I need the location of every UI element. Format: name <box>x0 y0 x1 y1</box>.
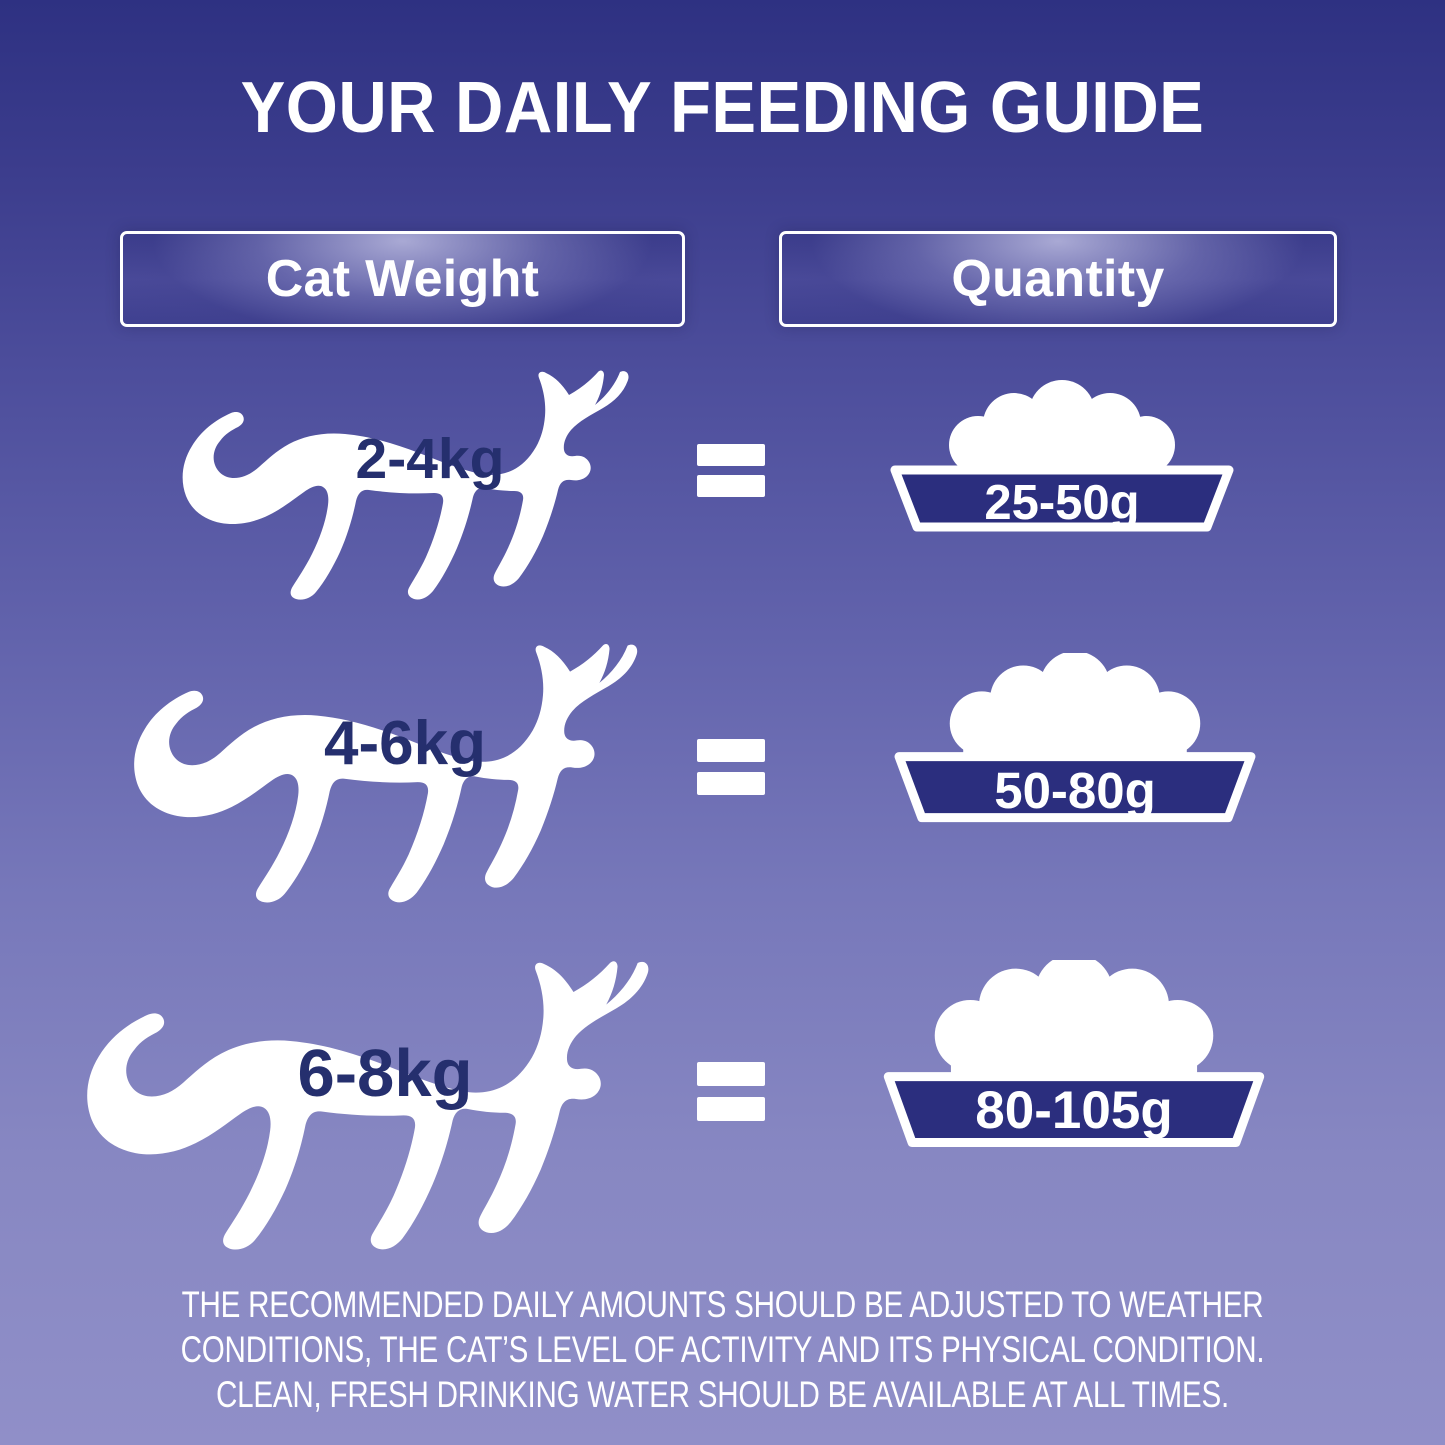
food-bowl-icon: 80-105g <box>857 960 1291 1150</box>
feeding-row: 2-4kg <box>0 360 1445 615</box>
food-bowl-icon: 25-50g <box>862 379 1262 534</box>
feeding-row: 4-6kg <box>0 633 1445 913</box>
feeding-guide-infographic: YOUR DAILY FEEDING GUIDE Cat Weight Quan… <box>0 0 1445 1445</box>
equals-icon <box>697 1062 765 1121</box>
footer-line-2: CONDITIONS, THE CAT’S LEVEL OF ACTIVITY … <box>145 1327 1301 1372</box>
weight-label: 6-8kg <box>265 1040 505 1107</box>
equals-icon <box>697 444 765 497</box>
column-header-quantity-label: Quantity <box>951 253 1164 305</box>
weight-label: 2-4kg <box>330 431 530 488</box>
footer-line-3: CLEAN, FRESH DRINKING WATER SHOULD BE AV… <box>145 1372 1301 1417</box>
quantity-label: 50-80g <box>868 765 1282 816</box>
footer-line-1: THE RECOMMENDED DAILY AMOUNTS SHOULD BE … <box>145 1282 1301 1327</box>
food-bowl-icon: 50-80g <box>868 653 1282 825</box>
quantity-label: 80-105g <box>857 1084 1291 1137</box>
column-header-cat-weight-label: Cat Weight <box>266 253 540 305</box>
footer-disclaimer: THE RECOMMENDED DAILY AMOUNTS SHOULD BE … <box>0 1282 1445 1417</box>
feeding-row: 6-8kg <box>0 950 1445 1250</box>
column-header-quantity: Quantity <box>779 231 1337 327</box>
weight-label: 4-6kg <box>295 713 515 775</box>
equals-icon <box>697 739 765 795</box>
quantity-label: 25-50g <box>862 479 1262 528</box>
column-header-cat-weight: Cat Weight <box>120 231 685 327</box>
page-title: YOUR DAILY FEEDING GUIDE <box>51 72 1395 144</box>
